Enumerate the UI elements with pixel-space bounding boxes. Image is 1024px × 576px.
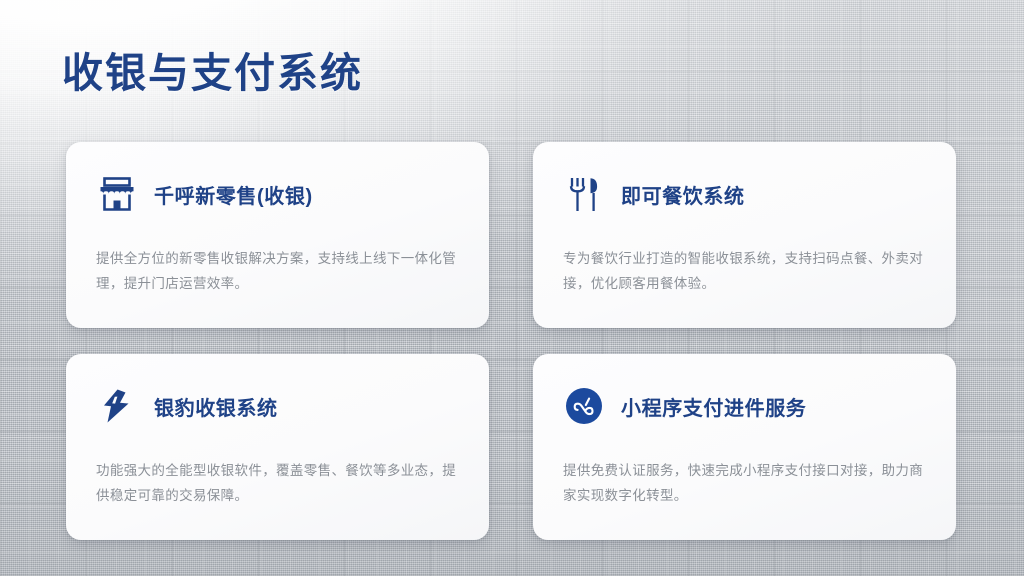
feature-card[interactable]: 即可餐饮系统 专为餐饮行业打造的智能收银系统，支持扫码点餐、外卖对接，优化顾客用… (533, 142, 956, 328)
storefront-icon (96, 173, 138, 215)
card-title: 小程序支付进件服务 (621, 392, 806, 421)
slide-canvas: 收银与支付系统 千呼新零售(收银) 提供全方位的新零售收银解决方案，支持线上线下… (0, 0, 1024, 576)
card-header: 千呼新零售(收银) (96, 168, 459, 220)
card-description: 提供免费认证服务，快速完成小程序支付接口对接，助力商家实现数字化转型。 (563, 458, 926, 508)
card-header: 银豹收银系统 (96, 380, 459, 432)
card-description: 功能强大的全能型收银软件，覆盖零售、餐饮等多业态，提供稳定可靠的交易保障。 (96, 458, 459, 508)
page-title: 收银与支付系统 (62, 39, 363, 99)
fork-knife-icon (563, 173, 605, 215)
wechat-miniprogram-icon (563, 385, 605, 427)
card-title: 千呼新零售(收银) (154, 180, 313, 209)
feature-card-grid: 千呼新零售(收银) 提供全方位的新零售收银解决方案，支持线上线下一体化管理，提升… (66, 142, 956, 540)
card-description: 提供全方位的新零售收银解决方案，支持线上线下一体化管理，提升门店运营效率。 (96, 246, 459, 296)
card-header: 即可餐饮系统 (563, 168, 926, 220)
card-description: 专为餐饮行业打造的智能收银系统，支持扫码点餐、外卖对接，优化顾客用餐体验。 (563, 246, 926, 296)
feature-card[interactable]: 银豹收银系统 功能强大的全能型收银软件，覆盖零售、餐饮等多业态，提供稳定可靠的交… (66, 354, 489, 540)
feature-card[interactable]: 小程序支付进件服务 提供免费认证服务，快速完成小程序支付接口对接，助力商家实现数… (533, 354, 956, 540)
lightning-bolt-icon (96, 385, 138, 427)
feature-card[interactable]: 千呼新零售(收银) 提供全方位的新零售收银解决方案，支持线上线下一体化管理，提升… (66, 142, 489, 328)
card-title: 即可餐饮系统 (621, 180, 745, 209)
card-title: 银豹收银系统 (154, 392, 278, 421)
card-header: 小程序支付进件服务 (563, 380, 926, 432)
